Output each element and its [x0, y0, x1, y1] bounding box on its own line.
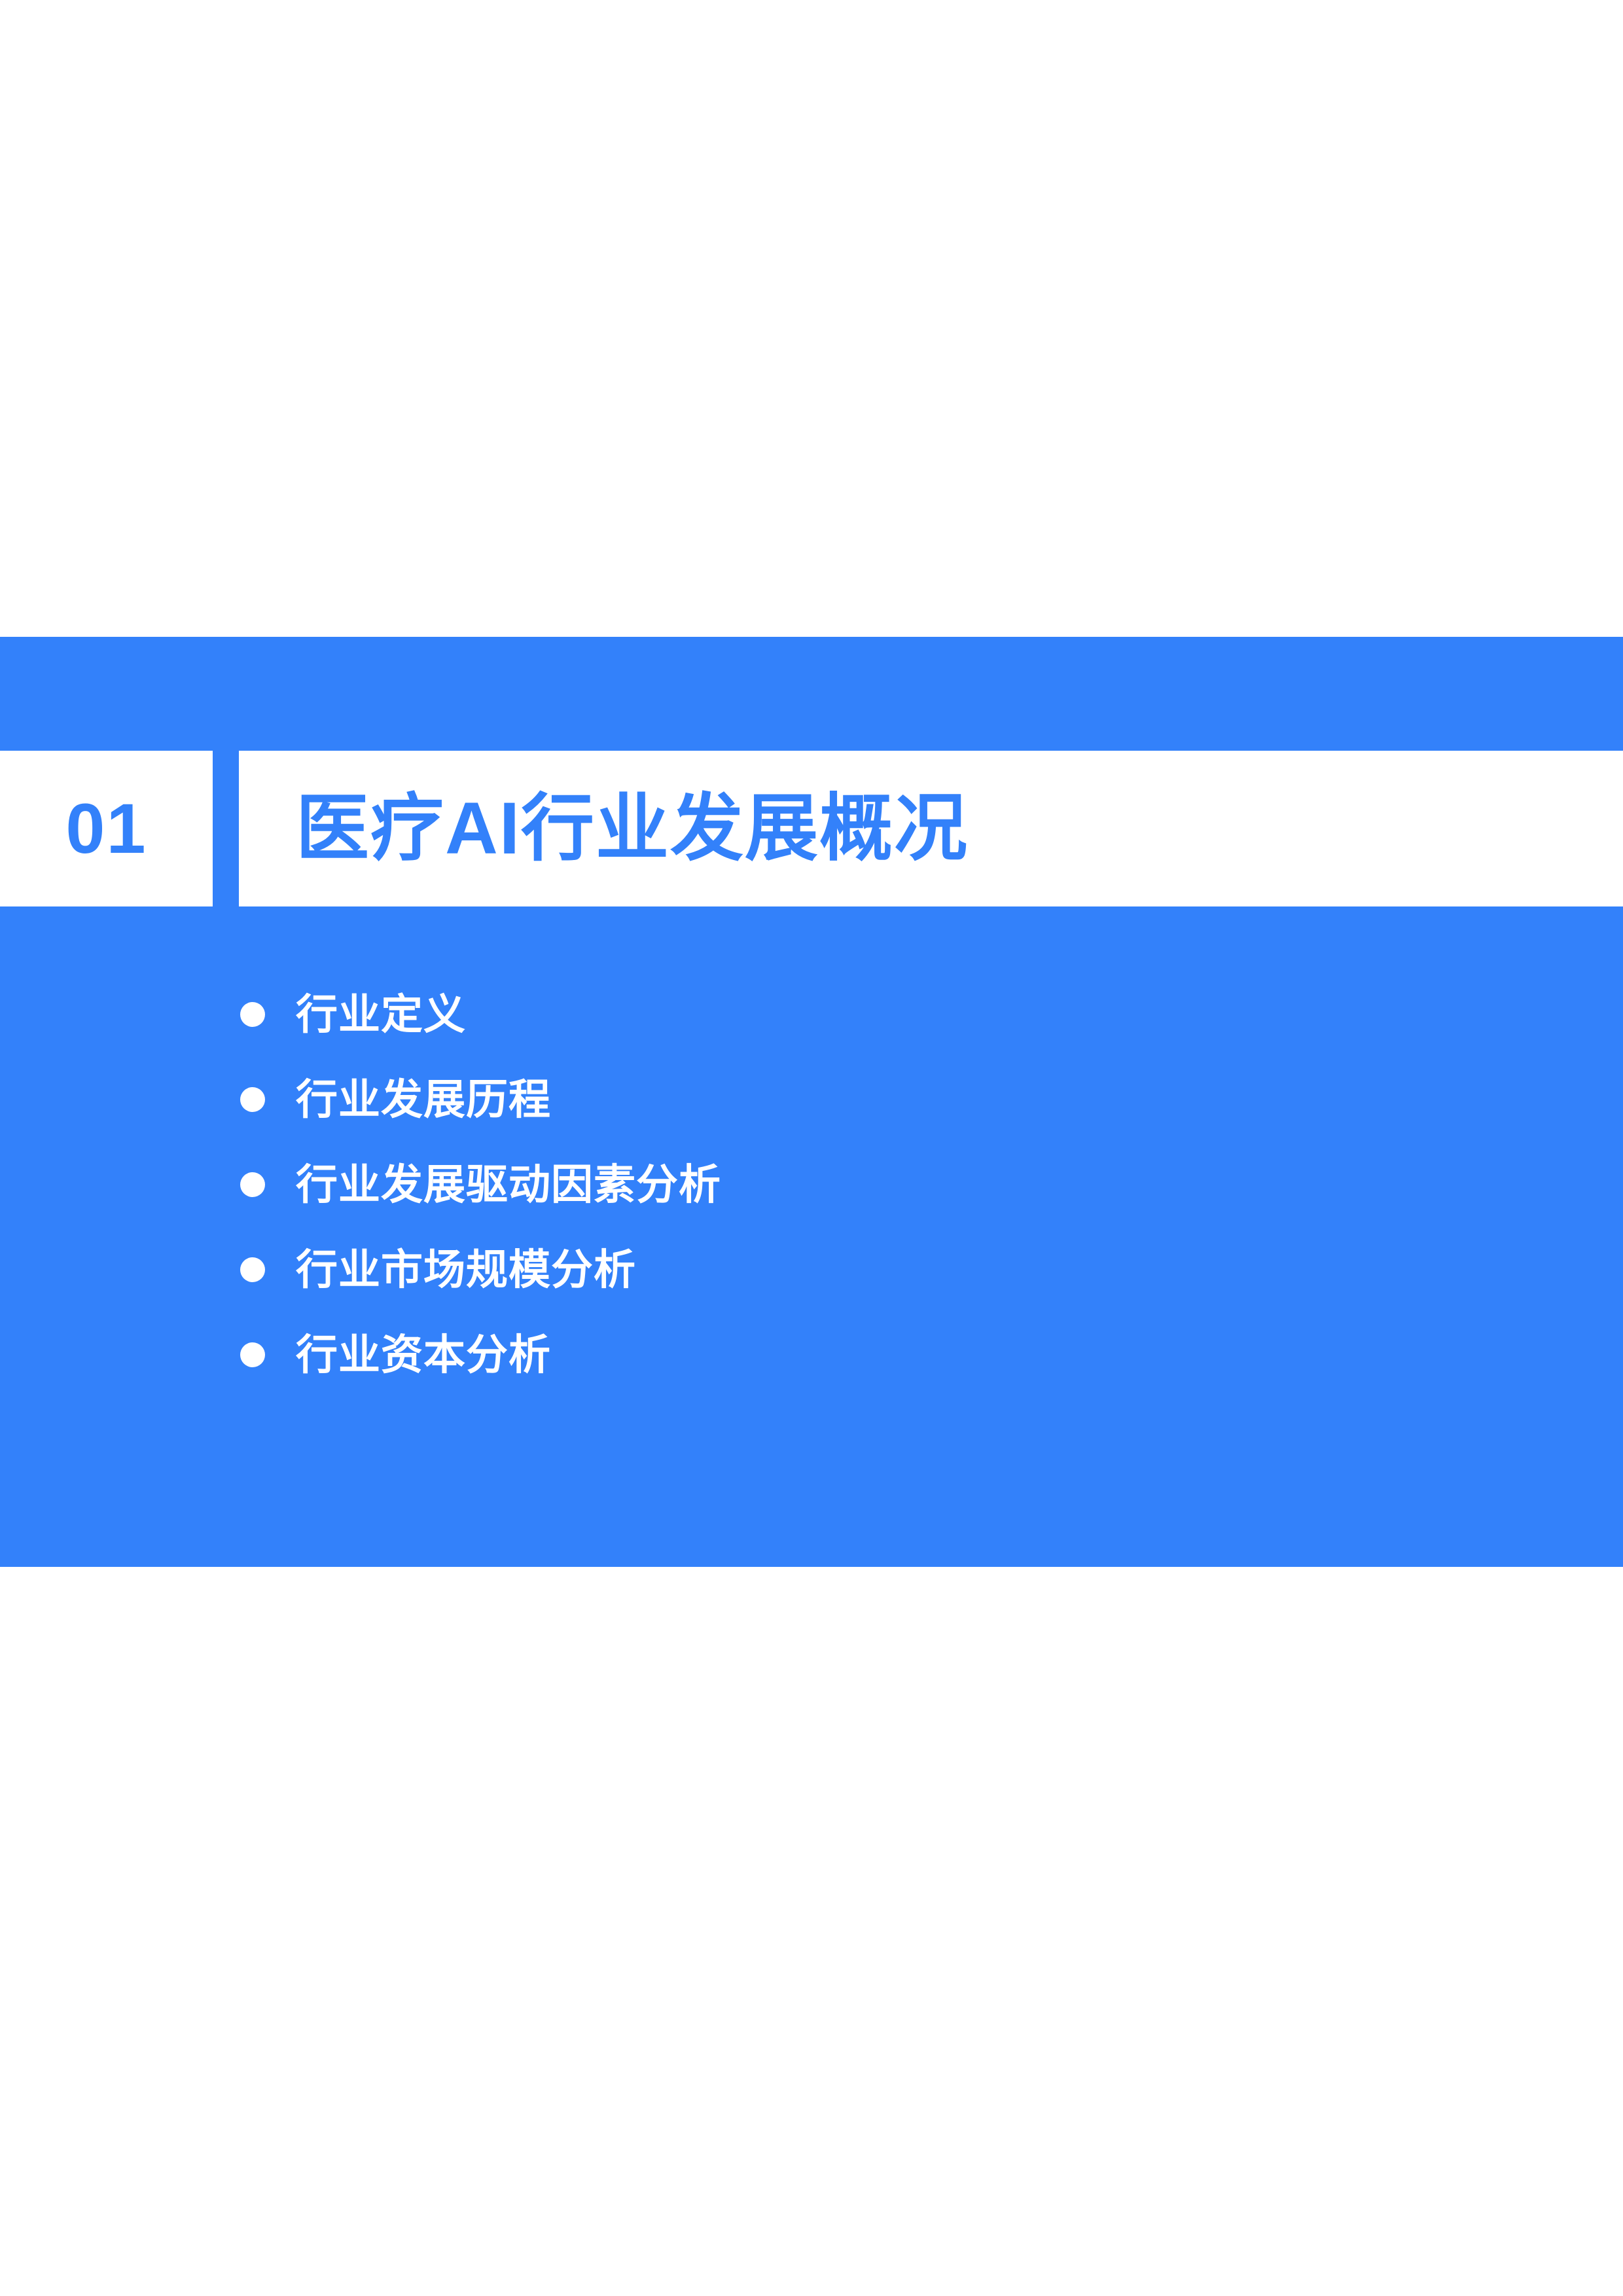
list-item-label: 行业发展驱动因素分析: [296, 1164, 721, 1206]
bullet-dot-icon: [240, 1257, 265, 1282]
list-item-label: 行业定义: [296, 994, 466, 1035]
list-item[interactable]: 行业发展历程: [0, 1057, 1623, 1142]
list-item[interactable]: 行业发展驱动因素分析: [0, 1142, 1623, 1227]
bullet-dot-icon: [240, 1002, 265, 1027]
list-item-label: 行业资本分析: [296, 1334, 551, 1376]
section-number: 01: [0, 751, 213, 906]
agenda-list: 行业定义 行业发展历程 行业发展驱动因素分析 行业市场规模分析 行业资本分析: [0, 972, 1623, 1397]
section-title-band: 01 医疗AI行业发展概况: [0, 751, 1623, 906]
bullet-dot-icon: [240, 1087, 265, 1112]
list-item[interactable]: 行业市场规模分析: [0, 1227, 1623, 1312]
list-item-label: 行业市场规模分析: [296, 1249, 636, 1291]
list-item[interactable]: 行业定义: [0, 972, 1623, 1057]
bullet-dot-icon: [240, 1342, 265, 1367]
section-divider-slide: 01 医疗AI行业发展概况 行业定义 行业发展历程 行业发展驱动因素分析 行业市…: [0, 637, 1623, 1567]
bullet-dot-icon: [240, 1172, 265, 1197]
page-title: 医疗AI行业发展概况: [296, 751, 969, 906]
title-divider-bar: [213, 751, 239, 906]
list-item[interactable]: 行业资本分析: [0, 1312, 1623, 1397]
list-item-label: 行业发展历程: [296, 1079, 551, 1121]
